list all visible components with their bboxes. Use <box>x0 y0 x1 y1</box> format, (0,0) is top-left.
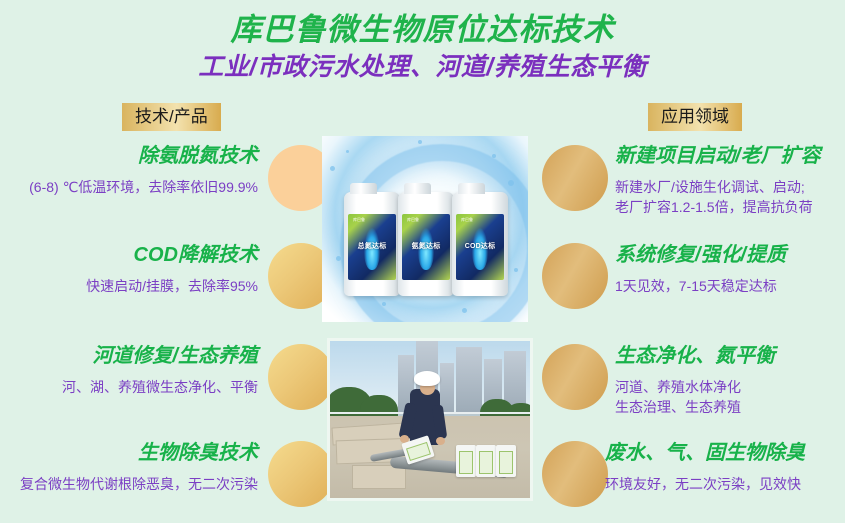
feature-title: 系统修复/强化/提质 <box>615 242 845 269</box>
feature-block-right-3: 生态净化、氮平衡 河道、养殖水体净化 生态治理、生态养殖 <box>615 343 845 417</box>
product-bottle-label: 库巴鲁 总氮达标 <box>348 214 396 280</box>
feature-desc-line: 河、湖、养殖微生态净化、平衡 <box>0 377 258 397</box>
product-label-text: 总氮达标 <box>348 241 396 251</box>
product-bottle-label: 库巴鲁 氨氮达标 <box>402 214 450 280</box>
feature-desc-line: 河道、养殖水体净化 <box>615 377 845 397</box>
photo-building <box>456 347 482 413</box>
water-droplet <box>492 154 496 158</box>
water-droplet <box>418 140 422 144</box>
feature-block-left-1: 除氨脱氮技术 (6-8) ℃低温环境，去除率依旧99.9% <box>0 143 258 197</box>
product-brand-text: 库巴鲁 <box>353 217 365 223</box>
feature-desc-line: 环境友好，无二次污染，见效快 <box>605 474 845 494</box>
photo-worker-helmet <box>414 371 440 386</box>
decor-circle-right-3 <box>542 344 608 410</box>
feature-desc: 河道、养殖水体净化 生态治理、生态养殖 <box>615 377 845 417</box>
site-photo <box>327 338 533 501</box>
feature-desc: 环境友好，无二次污染，见效快 <box>605 474 845 494</box>
feature-desc-line: 新建水厂/设施生化调试、启动; <box>615 177 845 197</box>
feature-block-right-2: 系统修复/强化/提质 1天见效，7-15天稳定达标 <box>615 242 845 296</box>
feature-desc: 新建水厂/设施生化调试、启动; 老厂扩容1.2-1.5倍，提高抗负荷 <box>615 177 845 217</box>
decor-circle-right-2 <box>542 243 608 309</box>
decor-circle-left-4 <box>268 441 334 507</box>
feature-title: 废水、气、固生物除臭 <box>605 440 845 467</box>
product-bottle: 库巴鲁 氨氮达标 <box>398 192 454 296</box>
feature-block-left-2: COD降解技术 快速启动/挂膜，去除率95% <box>0 242 258 296</box>
page-subtitle: 工业/市政污水处理、河道/养殖生态平衡 <box>0 50 845 84</box>
feature-block-right-4: 废水、气、固生物除臭 环境友好，无二次污染，见效快 <box>605 440 845 494</box>
photo-worker-hand <box>436 437 445 445</box>
feature-title: 生物除臭技术 <box>0 440 258 467</box>
water-droplet <box>346 150 349 153</box>
photo-chemical-jug <box>456 445 476 477</box>
page-title: 库巴鲁微生物原位达标技术 <box>0 10 845 50</box>
feature-title: COD降解技术 <box>0 242 258 269</box>
feature-desc-line: 老厂扩容1.2-1.5倍，提高抗负荷 <box>615 197 845 217</box>
feature-desc-line: 生态治理、生态养殖 <box>615 397 845 417</box>
product-brand-text: 库巴鲁 <box>407 217 419 223</box>
feature-title: 新建项目启动/老厂扩容 <box>615 143 845 170</box>
product-label-text: 氨氮达标 <box>402 241 450 251</box>
section-badge-application: 应用领域 <box>648 103 742 131</box>
section-badge-technology: 技术/产品 <box>122 103 221 131</box>
feature-desc: 1天见效，7-15天稳定达标 <box>615 276 845 296</box>
decor-circle-right-1 <box>542 145 608 211</box>
photo-chemical-jug <box>496 445 516 477</box>
decor-circle-right-4 <box>542 441 608 507</box>
feature-desc: 复合微生物代谢根除恶臭，无二次污染 <box>0 474 258 494</box>
water-droplet <box>336 256 341 261</box>
feature-title: 生态净化、氮平衡 <box>615 343 845 370</box>
water-droplet <box>462 308 467 313</box>
water-droplet <box>382 302 386 306</box>
feature-desc-line: 复合微生物代谢根除恶臭，无二次污染 <box>0 474 258 494</box>
product-photo: 库巴鲁 总氮达标 库巴鲁 氨氮达标 库巴鲁 COD达标 <box>322 136 528 322</box>
water-droplet <box>508 180 514 186</box>
feature-block-right-1: 新建项目启动/老厂扩容 新建水厂/设施生化调试、启动; 老厂扩容1.2-1.5倍… <box>615 143 845 217</box>
water-droplet <box>514 268 518 272</box>
product-bottle-label: 库巴鲁 COD达标 <box>456 214 504 280</box>
photo-cover-board <box>352 465 406 489</box>
product-label-text: COD达标 <box>456 241 504 251</box>
feature-desc: 快速启动/挂膜，去除率95% <box>0 276 258 296</box>
feature-desc-line: 快速启动/挂膜，去除率95% <box>0 276 258 296</box>
water-droplet <box>330 166 335 171</box>
poster-header: 库巴鲁微生物原位达标技术 工业/市政污水处理、河道/养殖生态平衡 <box>0 0 845 84</box>
product-brand-text: 库巴鲁 <box>461 217 473 223</box>
feature-block-left-3: 河道修复/生态养殖 河、湖、养殖微生态净化、平衡 <box>0 343 258 397</box>
poster-root: 库巴鲁微生物原位达标技术 工业/市政污水处理、河道/养殖生态平衡 技术/产品 应… <box>0 0 845 523</box>
feature-desc: 河、湖、养殖微生态净化、平衡 <box>0 377 258 397</box>
decor-circle-left-3 <box>268 344 334 410</box>
product-bottle: 库巴鲁 COD达标 <box>452 192 508 296</box>
feature-title: 除氨脱氮技术 <box>0 143 258 170</box>
feature-title: 河道修复/生态养殖 <box>0 343 258 370</box>
photo-chemical-jug <box>476 445 496 477</box>
product-bottle: 库巴鲁 总氮达标 <box>344 192 400 296</box>
feature-desc-line: 1天见效，7-15天稳定达标 <box>615 276 845 296</box>
feature-desc-line: (6-8) ℃低温环境，去除率依旧99.9% <box>0 177 258 197</box>
feature-block-left-4: 生物除臭技术 复合微生物代谢根除恶臭，无二次污染 <box>0 440 258 494</box>
feature-desc: (6-8) ℃低温环境，去除率依旧99.9% <box>0 177 258 197</box>
